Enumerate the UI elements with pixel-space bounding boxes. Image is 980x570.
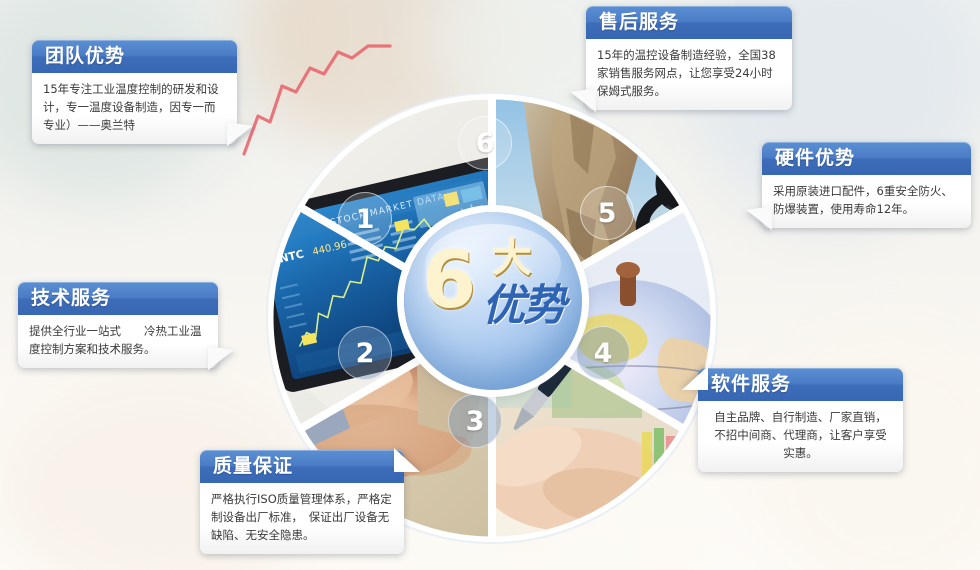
callout-tail [227,122,253,150]
segment-number-5[interactable]: 5 [580,186,634,240]
callout-title: 质量保证 [200,450,404,483]
callout-software-service[interactable]: 软件服务 自主品牌、自行制造、厂家直销，不招中间商、代理商，让客户享受实惠。 [698,368,903,472]
callout-body: 采用原装进口配件，6重安全防火、防爆装置，使用寿命12年。 [762,175,971,228]
callout-tail [746,206,772,234]
callout-after-sales-service[interactable]: 售后服务 15年的温控设备制造经验，全国38家销售服务网点，让您享受24小时保姆… [586,6,792,110]
callout-hardware-advantage[interactable]: 硬件优势 采用原装进口配件，6重安全防火、防爆装置，使用寿命12年。 [762,142,971,228]
segment-number-label: 6 [476,128,495,159]
segment-number-label: 1 [356,204,375,235]
segment-number-label: 3 [466,406,485,437]
callout-technical-service[interactable]: 技术服务 提供全行业一站式 冷热工业温度控制方案和技术服务。 [18,282,218,368]
callout-title: 软件服务 [698,368,903,401]
callout-team-advantage[interactable]: 团队优势 15年专注工业温度控制的研发和设计，专一温度设备制造，因专一而专业）—… [32,40,237,144]
callout-tail [394,448,420,472]
segment-number-4[interactable]: 4 [576,326,630,380]
segment-number-6[interactable]: 6 [458,116,512,170]
callout-tail [208,346,234,374]
callout-body: 提供全行业一站式 冷热工业温度控制方案和技术服务。 [18,315,218,368]
infographic-canvas: STOCK MARKET DATA INTC 440.96 [0,0,980,570]
center-big-word: 大 [492,238,532,278]
callout-body: 15年专注工业温度控制的研发和设计，专一温度设备制造，因专一而专业）——奥兰特 [32,73,237,144]
segment-number-label: 4 [594,338,613,369]
callout-body: 15年的温控设备制造经验，全国38家销售服务网点，让您享受24小时保姆式服务。 [586,39,792,110]
callout-tail [570,88,596,116]
center-number: 6 [422,242,476,320]
center-script-word: 优势 [482,284,564,328]
segment-number-1[interactable]: 1 [338,192,392,246]
callout-title: 硬件优势 [762,142,971,175]
callout-title: 团队优势 [32,40,237,73]
center-badge: 6 大 优势 [404,212,582,390]
segment-number-label: 5 [598,198,617,229]
segment-number-2[interactable]: 2 [338,326,392,380]
callout-title: 技术服务 [18,282,218,315]
callout-body: 自主品牌、自行制造、厂家直销，不招中间商、代理商，让客户享受实惠。 [698,401,903,472]
callout-body: 严格执行ISO质量管理体系，严格定制设备出厂标准， 保证出厂设备无缺陷、无安全隐… [200,483,404,554]
segment-number-label: 2 [356,338,375,369]
callout-tail [682,366,708,390]
callout-quality-guarantee[interactable]: 质量保证 严格执行ISO质量管理体系，严格定制设备出厂标准， 保证出厂设备无缺陷… [200,450,404,554]
callout-title: 售后服务 [586,6,792,39]
segment-number-3[interactable]: 3 [448,394,502,448]
